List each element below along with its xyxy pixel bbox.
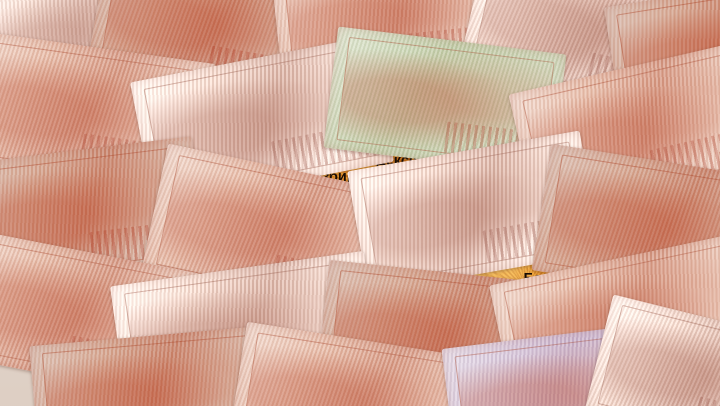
money-background: 5000500050005000500050005000 (0, 0, 720, 406)
